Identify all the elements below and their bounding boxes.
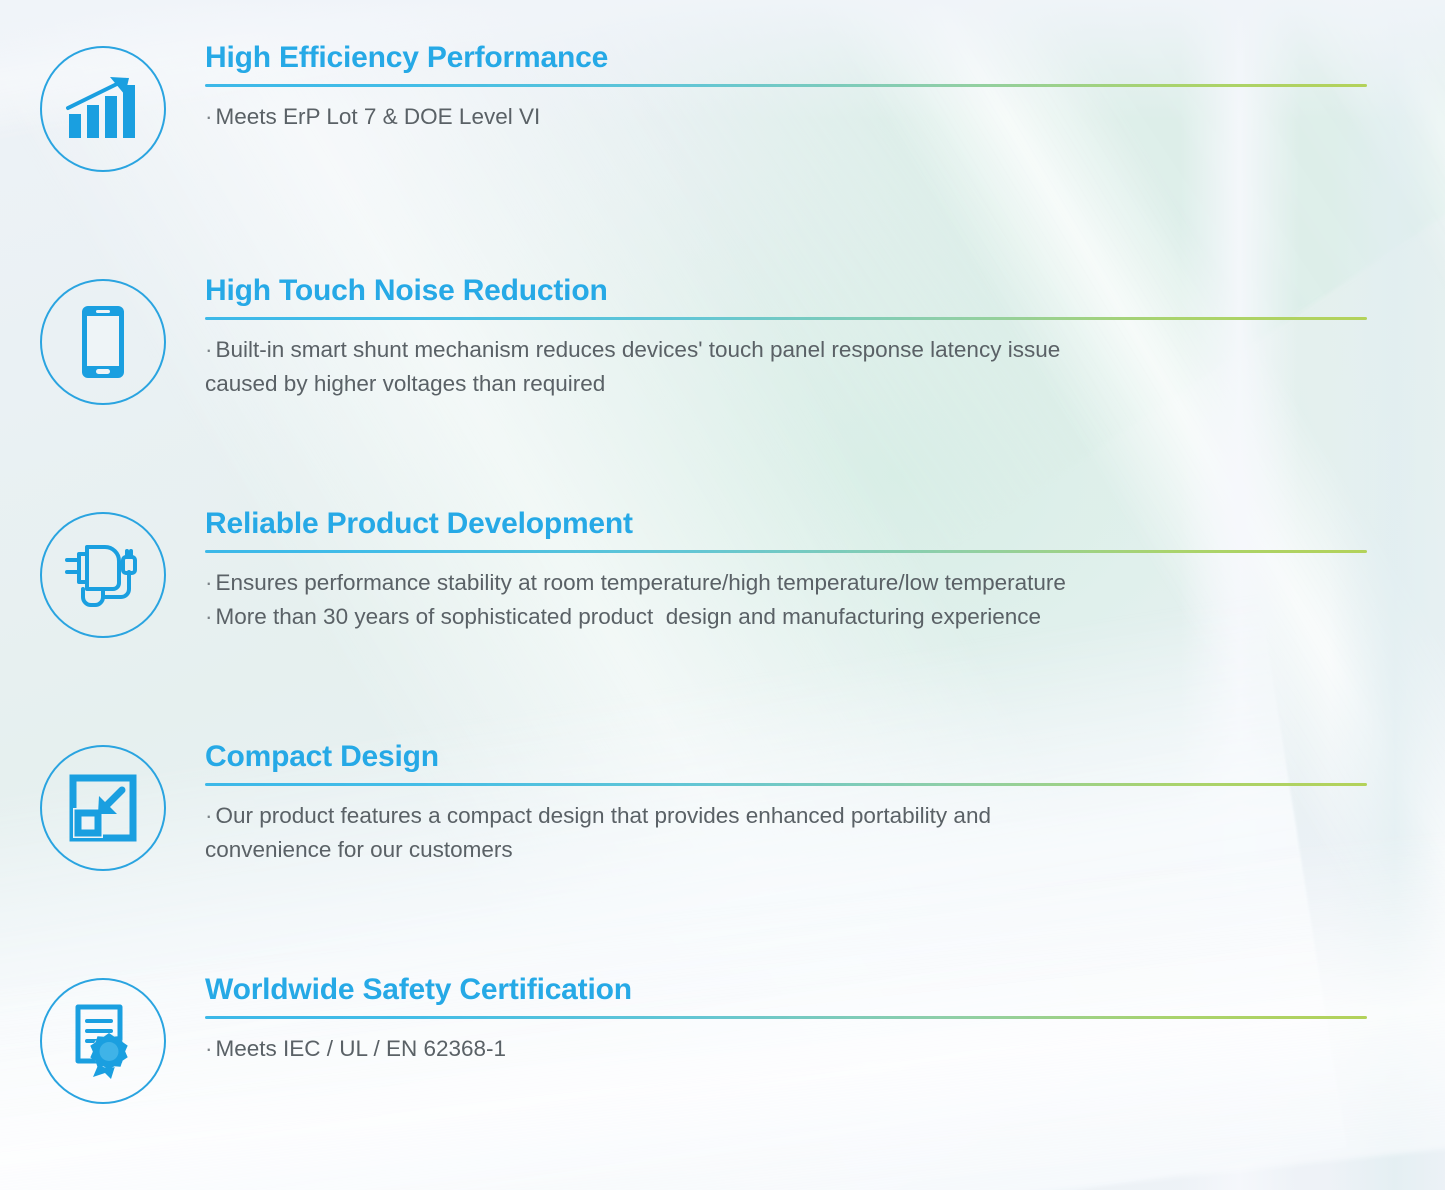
feature-item-worldwide-safety-certification: Worldwide Safety Certification ·Meets IE… — [0, 972, 1445, 1104]
bullet-text: Meets IEC / UL / EN 62368-1 — [216, 1036, 507, 1061]
feature-body: High Efficiency Performance ·Meets ErP L… — [205, 40, 1445, 134]
feature-bullet-line: ·Our product features a compact design t… — [205, 799, 1367, 832]
feature-bullet-line: ·Ensures performance stability at room t… — [205, 566, 1367, 599]
feature-icon-slot — [0, 506, 205, 638]
bullet-mark: · — [205, 803, 216, 828]
power-adapter-icon — [40, 512, 166, 638]
bar-chart-growth-icon — [40, 46, 166, 172]
feature-divider — [205, 1016, 1367, 1019]
feature-icon-slot — [0, 972, 205, 1104]
bullet-text: Built-in smart shunt mechanism reduces d… — [216, 337, 1061, 362]
feature-description: ·Meets ErP Lot 7 & DOE Level VI — [205, 100, 1367, 133]
feature-divider — [205, 783, 1367, 786]
feature-title: Worldwide Safety Certification — [205, 972, 1367, 1007]
feature-bullet-line: ·Meets ErP Lot 7 & DOE Level VI — [205, 100, 1367, 133]
bullet-mark: · — [205, 104, 216, 129]
bullet-mark: · — [205, 570, 216, 595]
feature-title: High Efficiency Performance — [205, 40, 1367, 75]
bullet-mark: · — [205, 1036, 216, 1061]
certificate-award-icon — [40, 978, 166, 1104]
feature-description: ·Ensures performance stability at room t… — [205, 566, 1367, 633]
feature-item-reliable-product-development: Reliable Product Development ·Ensures pe… — [0, 506, 1445, 638]
feature-divider — [205, 84, 1367, 87]
feature-title: Compact Design — [205, 739, 1367, 774]
feature-item-high-efficiency-performance: High Efficiency Performance ·Meets ErP L… — [0, 40, 1445, 172]
bullet-mark: · — [205, 337, 216, 362]
feature-icon-slot — [0, 739, 205, 871]
compact-resize-icon — [40, 745, 166, 871]
feature-item-compact-design: Compact Design ·Our product features a c… — [0, 739, 1445, 871]
bullet-text: Ensures performance stability at room te… — [216, 570, 1066, 595]
feature-description: ·Built-in smart shunt mechanism reduces … — [205, 333, 1367, 400]
feature-bullet-line: ·Meets IEC / UL / EN 62368-1 — [205, 1032, 1367, 1065]
bullet-text: More than 30 years of sophisticated prod… — [216, 604, 1042, 629]
feature-list: High Efficiency Performance ·Meets ErP L… — [0, 0, 1445, 1190]
feature-description: ·Meets IEC / UL / EN 62368-1 — [205, 1032, 1367, 1065]
feature-bullet-line: ·More than 30 years of sophisticated pro… — [205, 600, 1367, 633]
bullet-text-continuation: caused by higher voltages than required — [205, 371, 605, 396]
feature-icon-slot — [0, 273, 205, 405]
feature-divider — [205, 317, 1367, 320]
feature-title: Reliable Product Development — [205, 506, 1367, 541]
feature-item-high-touch-noise-reduction: High Touch Noise Reduction ·Built-in sma… — [0, 273, 1445, 405]
bullet-text: Our product features a compact design th… — [216, 803, 991, 828]
feature-divider — [205, 550, 1367, 553]
feature-title: High Touch Noise Reduction — [205, 273, 1367, 308]
bullet-mark: · — [205, 604, 216, 629]
bullet-text: Meets ErP Lot 7 & DOE Level VI — [216, 104, 541, 129]
feature-description: ·Our product features a compact design t… — [205, 799, 1367, 866]
feature-body: Compact Design ·Our product features a c… — [205, 739, 1445, 866]
smartphone-icon — [40, 279, 166, 405]
feature-bullet-line: ·Built-in smart shunt mechanism reduces … — [205, 333, 1367, 366]
feature-body: Reliable Product Development ·Ensures pe… — [205, 506, 1445, 633]
feature-body: High Touch Noise Reduction ·Built-in sma… — [205, 273, 1445, 400]
feature-icon-slot — [0, 40, 205, 172]
feature-body: Worldwide Safety Certification ·Meets IE… — [205, 972, 1445, 1066]
bullet-text-continuation: convenience for our customers — [205, 837, 513, 862]
